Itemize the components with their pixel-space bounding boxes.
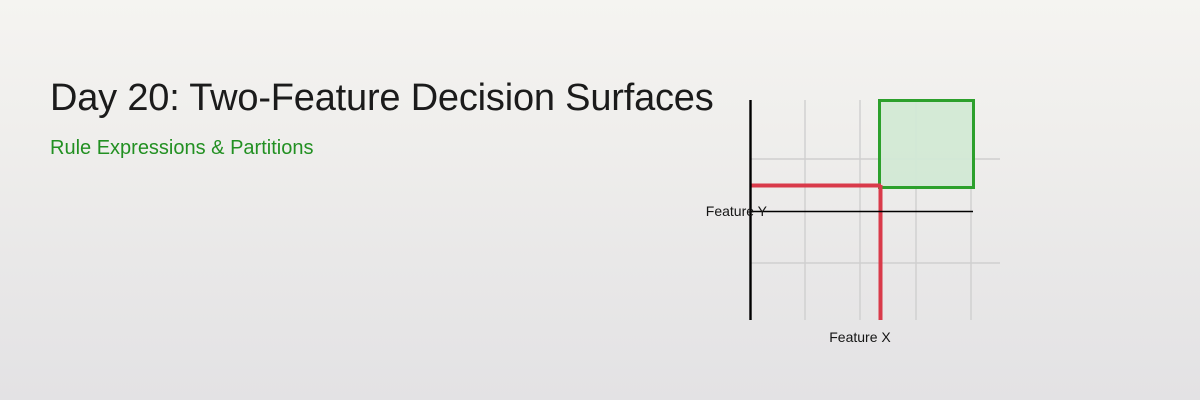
threshold-lines — [750, 185, 881, 320]
decision-surface-svg: Feature Y Feature X — [660, 80, 1000, 360]
page-title: Day 20: Two-Feature Decision Surfaces — [50, 78, 690, 119]
decision-surface-diagram: Feature Y Feature X — [660, 80, 1000, 360]
x-axis-label: Feature X — [829, 329, 891, 345]
accept-region-rect — [880, 101, 974, 188]
page-subtitle: Rule Expressions & Partitions — [50, 119, 690, 160]
title-block: Day 20: Two-Feature Decision Surfaces Ru… — [50, 78, 690, 160]
slide-canvas: Day 20: Two-Feature Decision Surfaces Ru… — [0, 0, 1200, 400]
y-axis-label: Feature Y — [706, 203, 768, 219]
